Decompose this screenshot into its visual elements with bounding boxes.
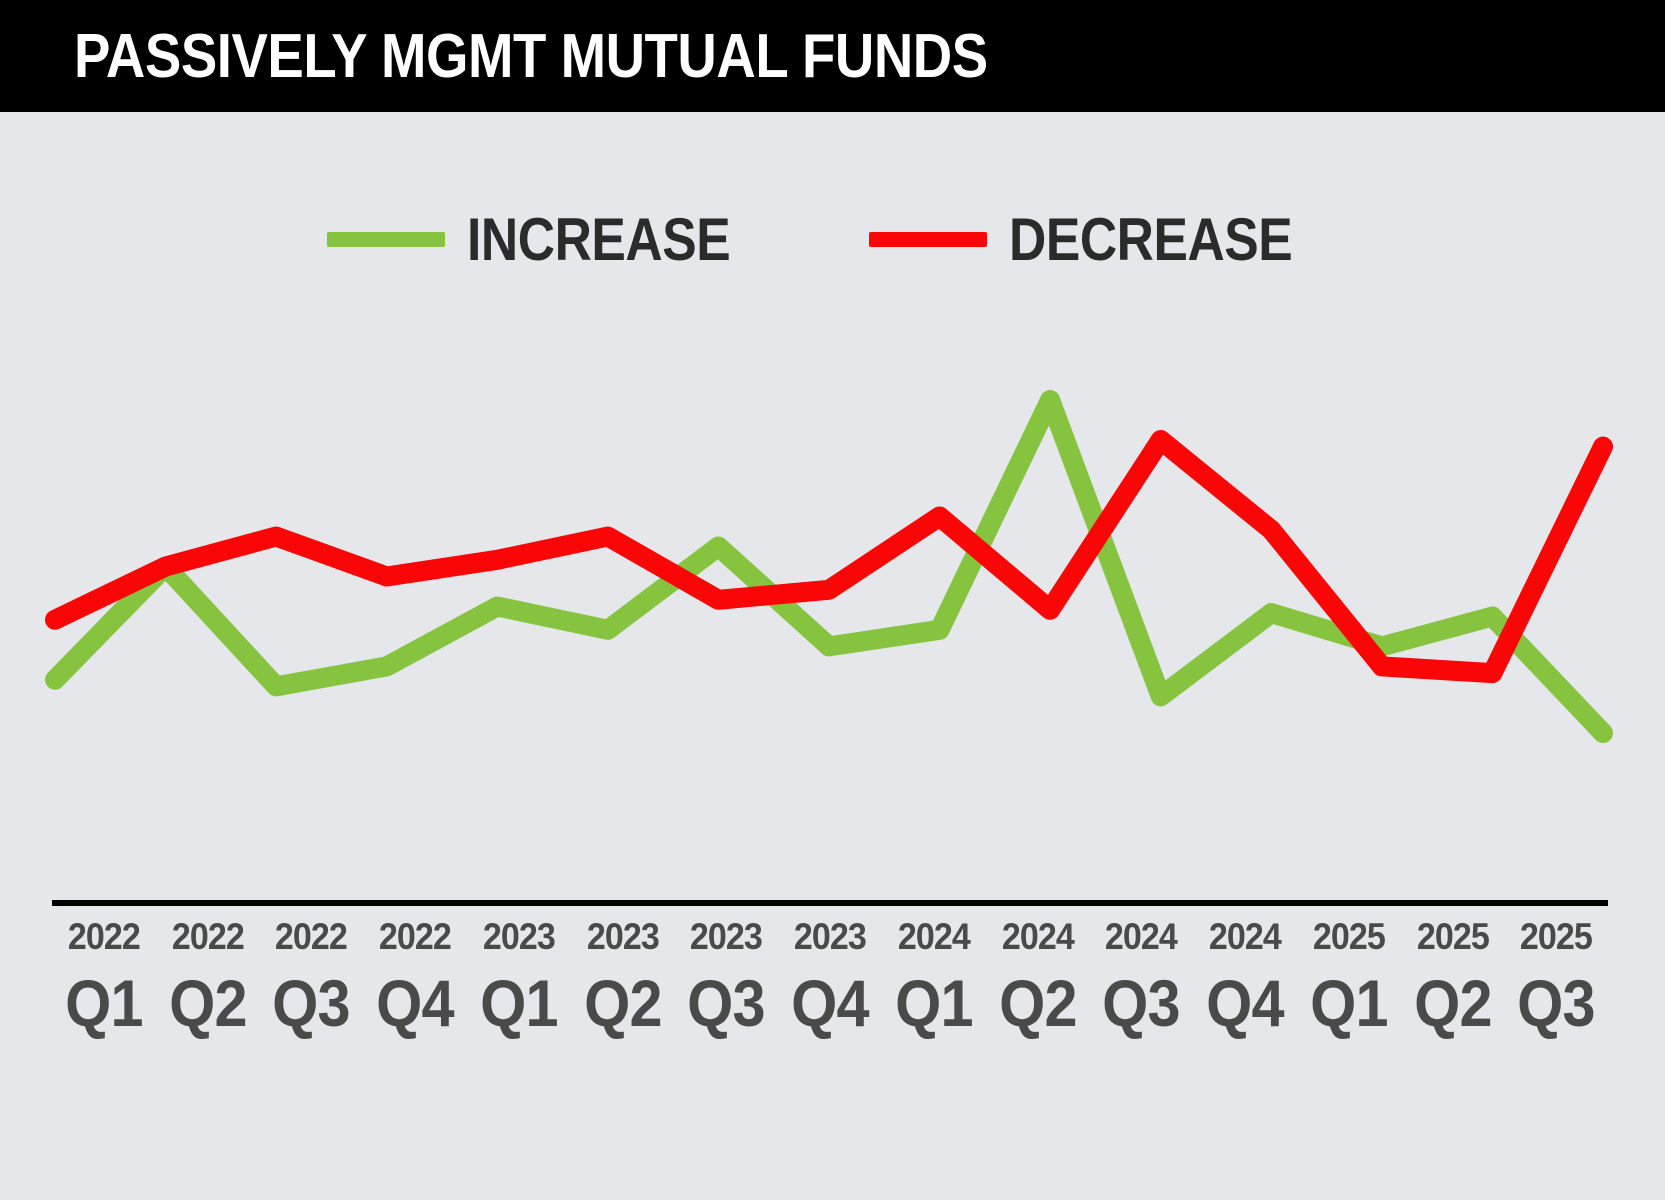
tick-year-label: 2022	[160, 918, 255, 955]
tick-quarter-label: Q3	[265, 969, 358, 1038]
tick-year-label: 2023	[575, 918, 670, 955]
tick-quarter-label: Q1	[472, 969, 565, 1038]
tick-quarter-label: Q1	[887, 969, 980, 1038]
x-axis-tick: 2022Q2	[156, 918, 260, 1038]
x-axis-tick: 2023Q2	[571, 918, 675, 1038]
tick-quarter-label: Q4	[1198, 969, 1291, 1038]
x-axis-tick: 2024Q2	[986, 918, 1090, 1038]
x-axis-tick: 2022Q4	[363, 918, 467, 1038]
x-axis-tick: 2022Q1	[52, 918, 156, 1038]
tick-quarter-label: Q1	[57, 969, 150, 1038]
tick-year-label: 2023	[471, 918, 566, 955]
tick-quarter-label: Q2	[161, 969, 254, 1038]
tick-year-label: 2024	[886, 918, 981, 955]
tick-year-label: 2022	[367, 918, 462, 955]
tick-quarter-label: Q3	[1509, 969, 1602, 1038]
chart-legend: INCREASE DECREASE	[0, 205, 1665, 274]
x-axis-tick: 2025Q1	[1297, 918, 1401, 1038]
tick-quarter-label: Q2	[1406, 969, 1499, 1038]
x-axis-tick: 2024Q4	[1193, 918, 1297, 1038]
increase-swatch	[327, 232, 445, 247]
x-axis-tick: 2025Q2	[1401, 918, 1505, 1038]
tick-year-label: 2024	[1197, 918, 1292, 955]
x-axis-tick: 2023Q3	[674, 918, 778, 1038]
tick-year-label: 2025	[1508, 918, 1603, 955]
x-axis-labels: 2022Q12022Q22022Q32022Q42023Q12023Q22023…	[52, 918, 1608, 1038]
legend-item-decrease[interactable]: DECREASE	[869, 205, 1338, 274]
tick-quarter-label: Q4	[783, 969, 876, 1038]
tick-year-label: 2024	[990, 918, 1085, 955]
x-axis-tick: 2024Q1	[882, 918, 986, 1038]
tick-year-label: 2022	[264, 918, 359, 955]
tick-quarter-label: Q3	[1095, 969, 1188, 1038]
tick-quarter-label: Q1	[1302, 969, 1395, 1038]
page-title: PASSIVELY MGMT MUTUAL FUNDS	[74, 21, 988, 92]
tick-year-label: 2023	[782, 918, 877, 955]
x-axis-tick: 2023Q1	[467, 918, 571, 1038]
x-axis-tick: 2022Q3	[259, 918, 363, 1038]
tick-year-label: 2024	[1093, 918, 1188, 955]
tick-year-label: 2022	[56, 918, 151, 955]
tick-quarter-label: Q2	[991, 969, 1084, 1038]
tick-quarter-label: Q4	[368, 969, 461, 1038]
series-line-increase	[55, 400, 1603, 733]
legend-label-increase: INCREASE	[467, 205, 730, 274]
tick-quarter-label: Q2	[576, 969, 669, 1038]
tick-year-label: 2023	[679, 918, 774, 955]
tick-year-label: 2025	[1405, 918, 1500, 955]
title-bar: PASSIVELY MGMT MUTUAL FUNDS	[0, 0, 1665, 112]
x-axis-tick: 2024Q3	[1089, 918, 1193, 1038]
tick-quarter-label: Q3	[680, 969, 773, 1038]
decrease-swatch	[869, 232, 987, 247]
legend-label-decrease: DECREASE	[1009, 205, 1292, 274]
x-axis-tick: 2025Q3	[1504, 918, 1608, 1038]
legend-item-increase[interactable]: INCREASE	[327, 205, 773, 274]
series-line-decrease	[55, 440, 1603, 673]
x-axis-tick: 2023Q4	[778, 918, 882, 1038]
tick-year-label: 2025	[1301, 918, 1396, 955]
